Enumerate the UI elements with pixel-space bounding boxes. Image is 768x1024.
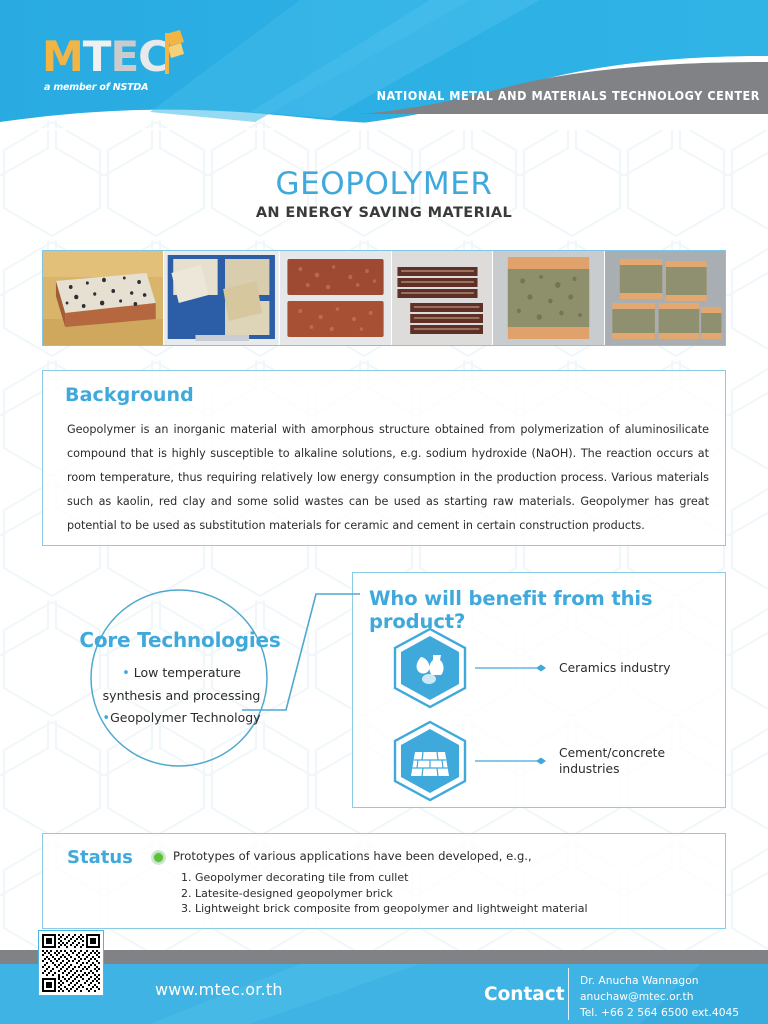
organization-banner: NATIONAL METAL AND MATERIALS TECHNOLOGY … [377, 88, 760, 103]
page-header: MTEC a member of NSTDA NATIONAL METAL AN… [0, 0, 768, 132]
page-subtitle: AN ENERGY SAVING MATERIAL [0, 205, 768, 221]
page-title: GEOPOLYMER [0, 166, 768, 202]
benefit-connector-line-2 [475, 755, 551, 767]
photo-lightweight-brick-composite-stack [605, 251, 725, 345]
status-section: Status Prototypes of various application… [42, 833, 726, 929]
brick-wall-icon [391, 720, 469, 802]
footer-gray-bar [0, 950, 768, 964]
photo-red-clay-geopolymer-bricks [280, 251, 392, 345]
ceramic-pottery-icon [391, 627, 469, 709]
status-item-3: 3. Lightweight brick composite from geop… [181, 901, 588, 917]
benefit-section: Who will benefit from this product? Cera… [352, 572, 726, 808]
contact-details: Dr. Anucha Wannagon anuchaw@mtec.or.th T… [580, 973, 739, 1021]
status-item-2: 2. Latesite-designed geopolymer brick [181, 886, 588, 902]
logo-tagline: a member of NSTDA [44, 82, 148, 93]
benefit-item-ceramics: Ceramics industry [391, 627, 671, 709]
status-item-list: 1. Geopolymer decorating tile from culle… [181, 870, 588, 917]
photo-stacked-ribbed-geopolymer-bricks [392, 251, 493, 345]
photo-lightweight-brick-composite-cross-section [493, 251, 605, 345]
logo-letter-t: T [83, 32, 111, 81]
photo-geopolymer-tile-samples-on-blue-tray [164, 251, 280, 345]
status-heading: Status [67, 847, 133, 868]
product-photo-strip [42, 250, 726, 346]
benefit-label-ceramics: Ceramics industry [559, 660, 671, 676]
mtec-logo: MTEC a member of NSTDA [42, 30, 192, 98]
mtec-logo-wordmark: MTEC [42, 36, 168, 78]
contact-label: Contact [484, 984, 565, 1005]
contact-email[interactable]: anuchaw@mtec.or.th [580, 989, 739, 1005]
contact-divider [568, 968, 569, 1020]
logo-letter-m: M [42, 32, 83, 81]
status-bullet-icon [151, 850, 166, 865]
status-item-1: 1. Geopolymer decorating tile from culle… [181, 870, 588, 886]
background-section: Background Geopolymer is an inorganic ma… [42, 370, 726, 546]
contact-phone: Tel. +66 2 564 6500 ext.4045 [580, 1005, 739, 1021]
qr-code-icon [42, 934, 100, 992]
website-url[interactable]: www.mtec.or.th [155, 980, 283, 999]
bullet-dot-icon-2: • [102, 711, 110, 726]
poster-page: MTEC a member of NSTDA NATIONAL METAL AN… [0, 0, 768, 1024]
core-to-benefit-connector [240, 576, 364, 736]
status-lead-text: Prototypes of various applications have … [173, 849, 532, 863]
background-heading: Background [65, 384, 194, 406]
qr-code[interactable] [38, 930, 104, 996]
benefit-item-cement: Cement/concrete industries [391, 720, 665, 802]
logo-letter-e: E [110, 32, 138, 81]
contact-name: Dr. Anucha Wannagon [580, 973, 739, 989]
core-item-1-line1: Low temperature [134, 665, 241, 680]
core-item-2-label: Geopolymer Technology [110, 710, 260, 725]
background-body-text: Geopolymer is an inorganic material with… [67, 418, 709, 538]
bullet-dot-icon: • [122, 666, 130, 681]
benefit-connector-line-1 [475, 662, 551, 674]
logo-flag-icon [154, 30, 188, 74]
photo-speckled-geopolymer-tile-slab [43, 251, 164, 345]
benefit-label-cement: Cement/concrete industries [559, 745, 665, 777]
